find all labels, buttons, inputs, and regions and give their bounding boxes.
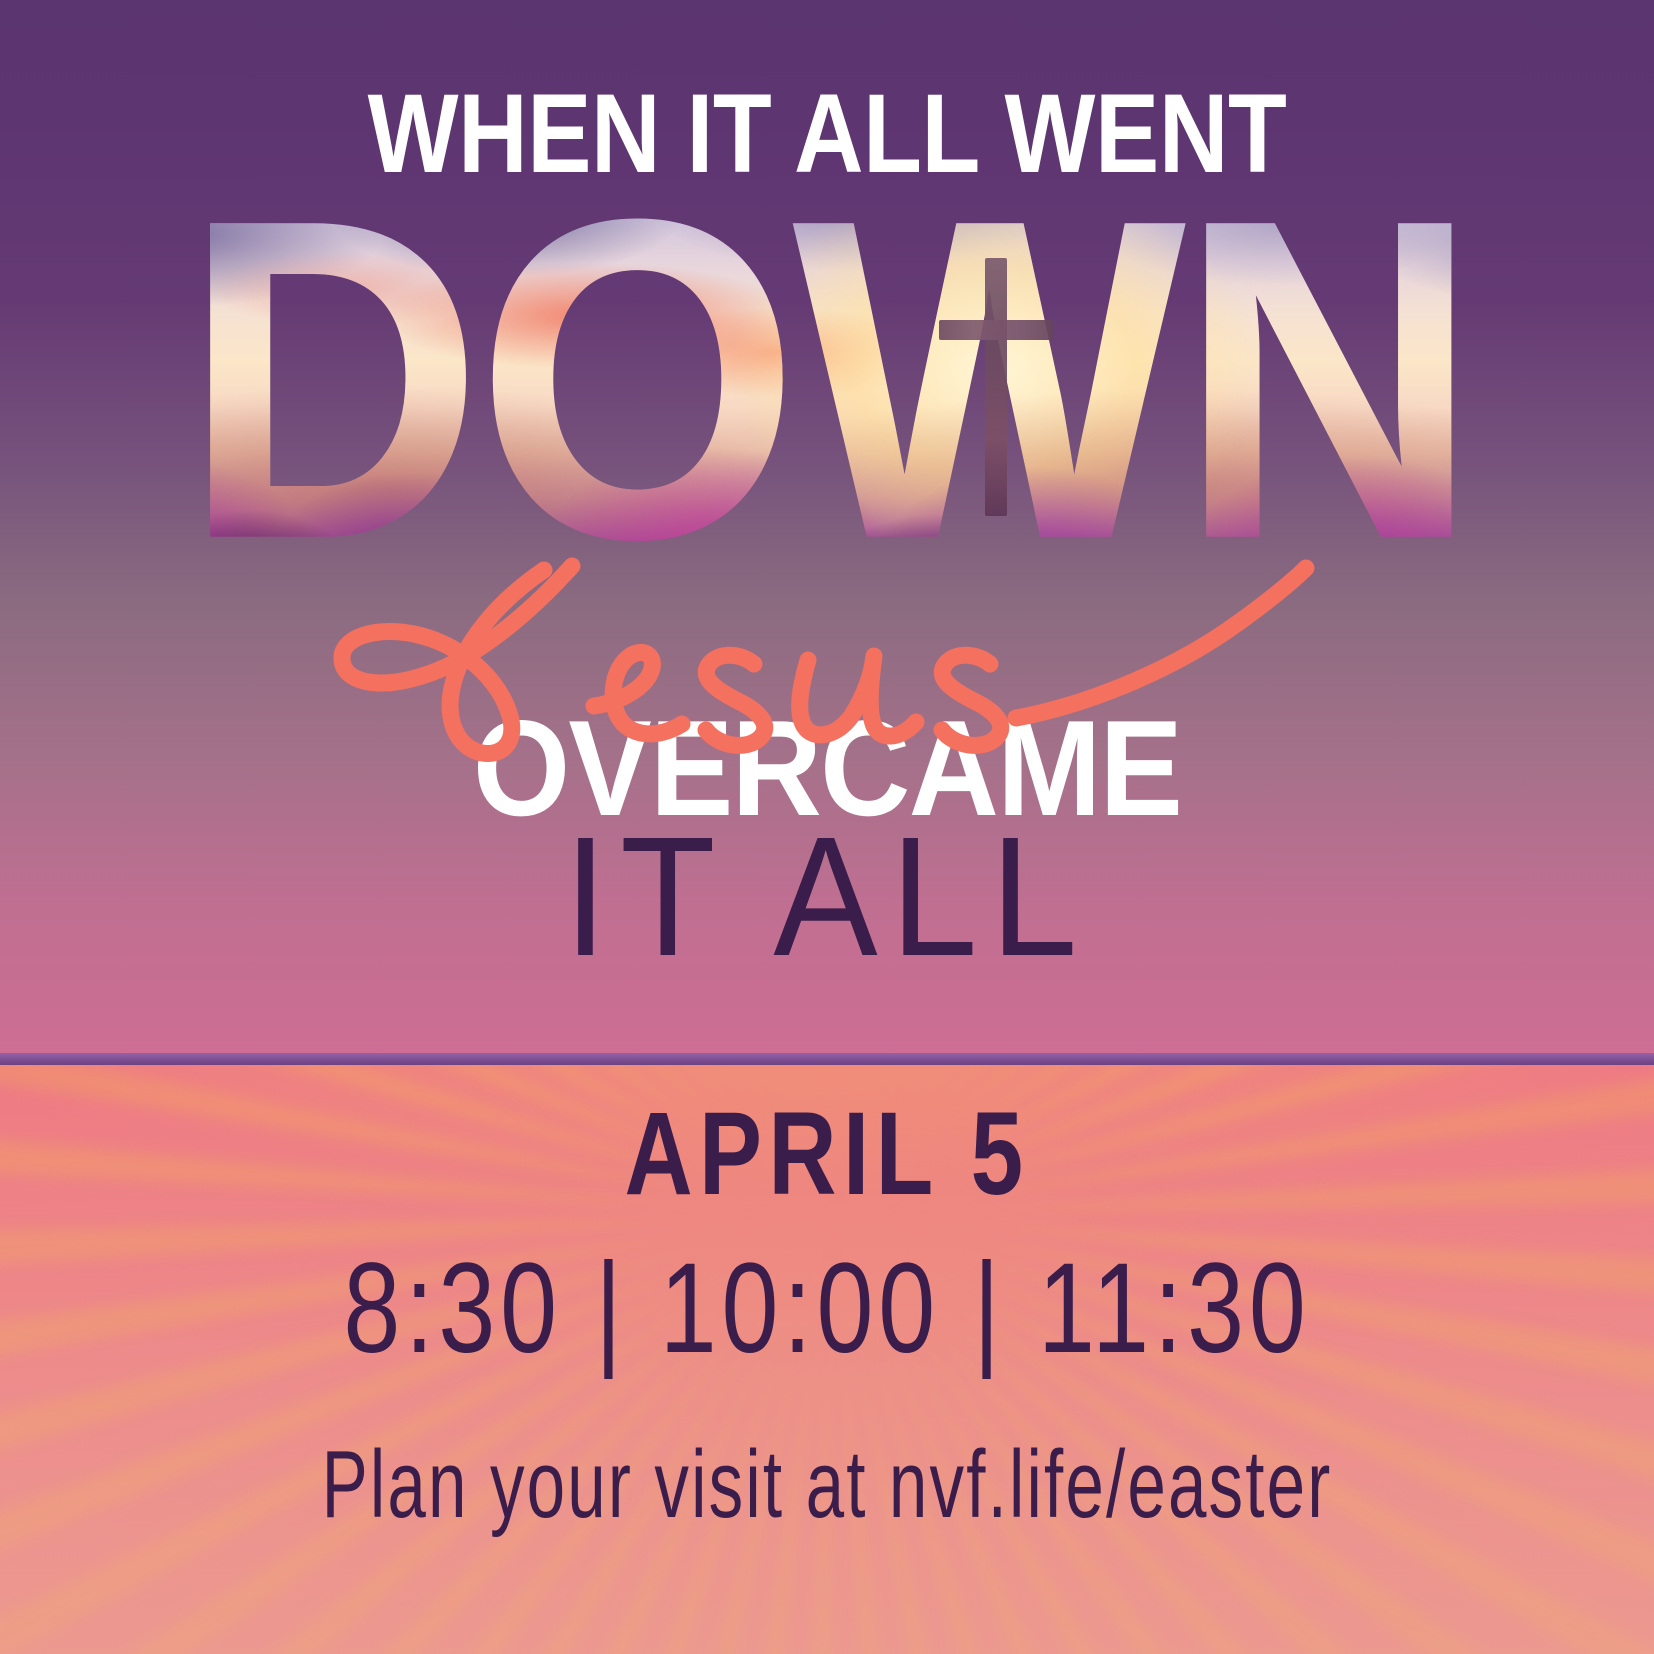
down-word-wrapper: DOWN [0,152,1654,582]
section-divider [0,1053,1654,1065]
service-times: 8:30 | 10:00 | 11:30 [165,1245,1488,1373]
details-content: APRIL 5 8:30 | 10:00 | 11:30 Plan your v… [0,1065,1654,1654]
plan-your-visit-cta[interactable]: Plan your visit at nvf.life/easter [232,1437,1423,1533]
headline-block: WHEN IT ALL WENT DOWN [0,0,1654,1055]
headline-word-down: DOWN [25,152,1629,608]
easter-service-poster: WHEN IT ALL WENT DOWN [0,0,1654,1654]
headline-line-it-all: IT ALL [66,812,1588,982]
service-date: APRIL 5 [165,1095,1488,1213]
